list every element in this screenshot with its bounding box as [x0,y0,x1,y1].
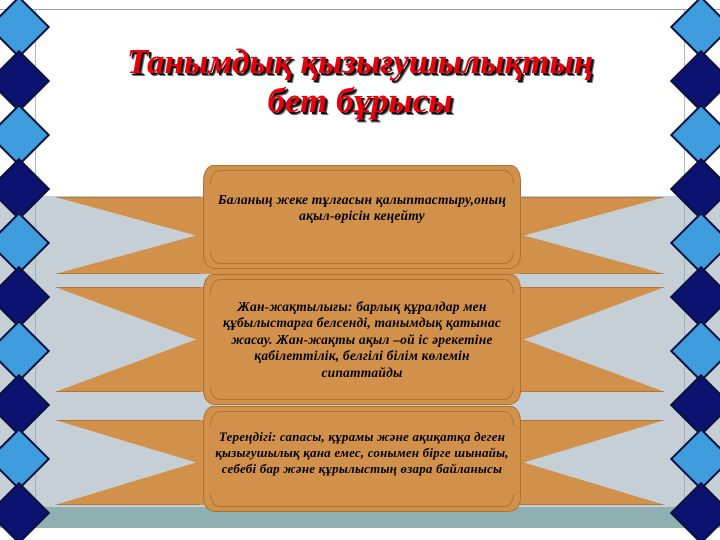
diamond-light-icon [670,212,720,274]
banner-text-1: Баланың жеке тұлғасын қалыптастыру,оның … [214,192,510,225]
scroll-curl-top-2 [210,279,514,294]
diamond-light-icon [670,428,720,490]
diamond-chain-left [0,0,42,540]
slide-title: Танымдық қызығушылықтың бет бұрысы [60,42,660,120]
banner-text-2: Жан-жақтылығы: барлық құралдар мен құбыл… [214,299,510,381]
diamond-light-icon [670,0,720,58]
scroll-panel-2: Жан-жақтылығы: барлық құралдар мен құбыл… [203,274,521,405]
background-band-bottom [0,528,720,540]
scroll-curl-bottom-3 [210,494,514,507]
scroll-curl-top-1 [210,170,514,185]
banner-text-3: Тереңдігі: сапасы, құрамы және ақиқатқа … [214,429,510,477]
diamond-dark-icon [670,158,720,220]
diamond-dark-icon [670,482,720,540]
scroll-curl-top-3 [210,411,514,426]
diamond-light-icon [670,104,720,166]
scroll-curl-bottom-1 [210,251,514,264]
scroll-panel-3: Тереңдігі: сапасы, құрамы және ақиқатқа … [203,406,521,512]
diamond-light-icon [670,320,720,382]
slide-canvas: Баланың жеке тұлғасын қалыптастыру,оның … [0,0,720,540]
diamond-dark-icon [670,266,720,328]
scroll-curl-bottom-2 [210,387,514,400]
scroll-panel-1: Баланың жеке тұлғасын қалыптастыру,оның … [203,165,521,269]
diamond-dark-icon [670,50,720,112]
diamond-chain-right [678,0,720,540]
diamond-dark-icon [670,374,720,436]
